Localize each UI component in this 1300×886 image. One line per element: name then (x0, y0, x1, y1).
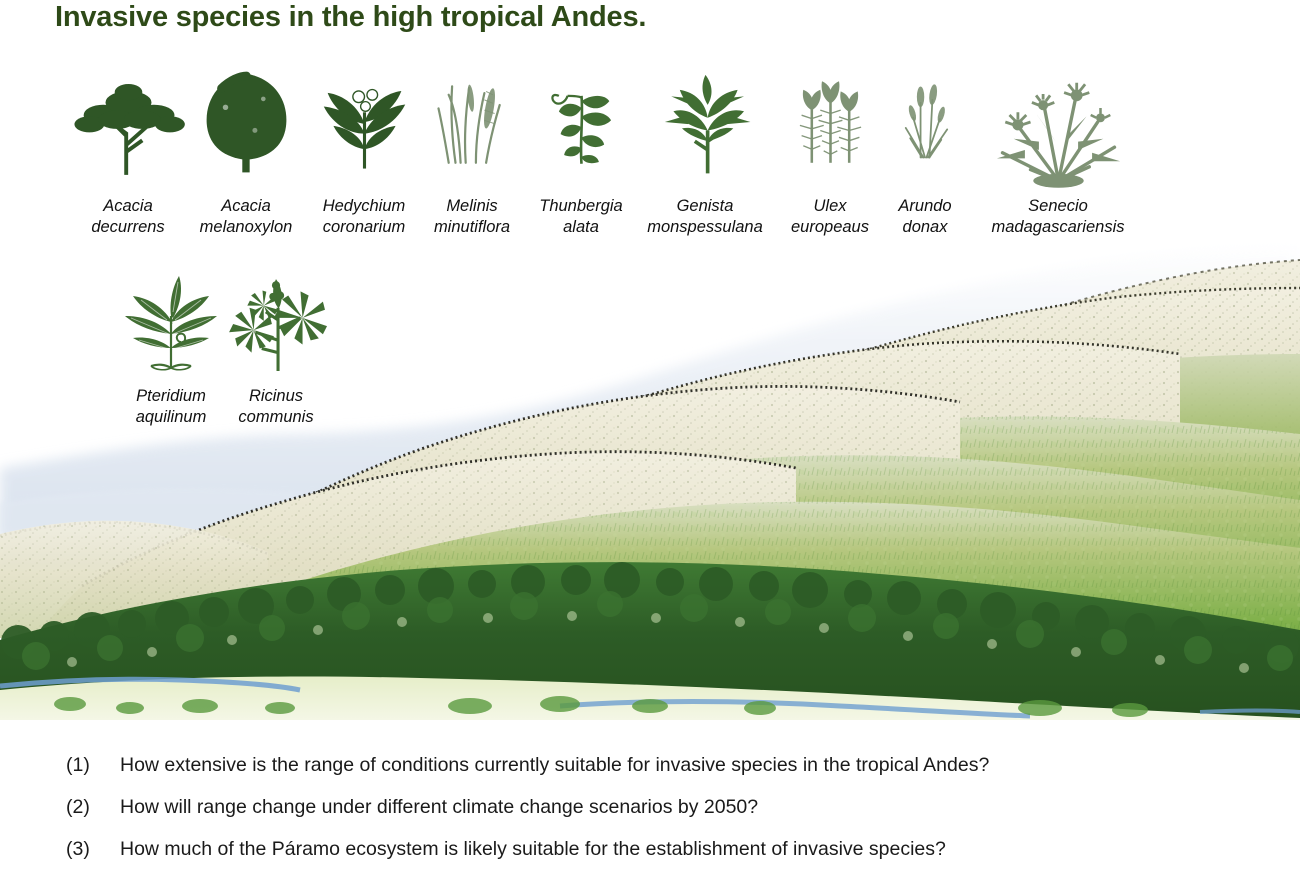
species-item-thunbergia-alata: Thunbergiaalata (528, 52, 634, 238)
giant-reed-icon (880, 52, 970, 192)
broom-shrub-icon (640, 52, 770, 192)
species-label: Hedychiumcoronarium (305, 196, 423, 238)
species-epithet: monspessulana (640, 217, 770, 238)
question-row: (1)How extensive is the range of conditi… (0, 748, 1300, 790)
question-number: (1) (66, 754, 90, 777)
species-item-acacia-decurrens: Acaciadecurrens (58, 52, 198, 238)
species-label: Acaciadecurrens (58, 196, 198, 238)
species-epithet: madagascariensis (972, 217, 1144, 238)
species-label: Seneciomadagascariensis (972, 196, 1144, 238)
gorse-spiny-icon (778, 52, 882, 192)
species-label: Ulexeuropeaus (778, 196, 882, 238)
tree-columnar-icon (182, 52, 310, 192)
tree-spreading-icon (58, 52, 198, 192)
question-text: How much of the Páramo ecosystem is like… (120, 838, 946, 861)
species-epithet: donax (880, 217, 970, 238)
question-row: (3)How much of the Páramo ecosystem is l… (0, 832, 1300, 874)
species-epithet: minutiflora (420, 217, 524, 238)
species-label: Acaciamelanoxylon (182, 196, 310, 238)
ginger-lily-icon (305, 52, 423, 192)
species-label: Arundodonax (880, 196, 970, 238)
question-row: (2)How will range change under different… (0, 790, 1300, 832)
question-number: (2) (66, 796, 90, 819)
questions-list: (1)How extensive is the range of conditi… (0, 748, 1300, 874)
species-item-hedychium-coronarium: Hedychiumcoronarium (305, 52, 423, 238)
species-item-melinis-minutiflora: Melinisminutiflora (420, 52, 524, 238)
question-text: How will range change under different cl… (120, 796, 758, 819)
page-title: Invasive species in the high tropical An… (55, 1, 646, 34)
species-epithet: decurrens (58, 217, 198, 238)
species-label: Melinisminutiflora (420, 196, 524, 238)
question-text: How extensive is the range of conditions… (120, 754, 989, 777)
species-epithet: alata (528, 217, 634, 238)
species-label: Genistamonspessulana (640, 196, 770, 238)
species-epithet: melanoxylon (182, 217, 310, 238)
vine-climbing-icon (528, 52, 634, 192)
species-item-acacia-melanoxylon: Acaciamelanoxylon (182, 52, 310, 238)
species-item-senecio-madagascariensis: Seneciomadagascariensis (972, 52, 1144, 238)
species-item-arundo-donax: Arundodonax (880, 52, 970, 238)
grass-tufted-icon (420, 52, 524, 192)
question-number: (3) (66, 838, 90, 861)
fireweed-daisy-icon (972, 52, 1144, 192)
species-label: Thunbergiaalata (528, 196, 634, 238)
andes-landscape-illustration (0, 238, 1300, 720)
species-item-genista-monspessulana: Genistamonspessulana (640, 52, 770, 238)
species-epithet: coronarium (305, 217, 423, 238)
species-epithet: europeaus (778, 217, 882, 238)
species-item-ulex-europeaus: Ulexeuropeaus (778, 52, 882, 238)
